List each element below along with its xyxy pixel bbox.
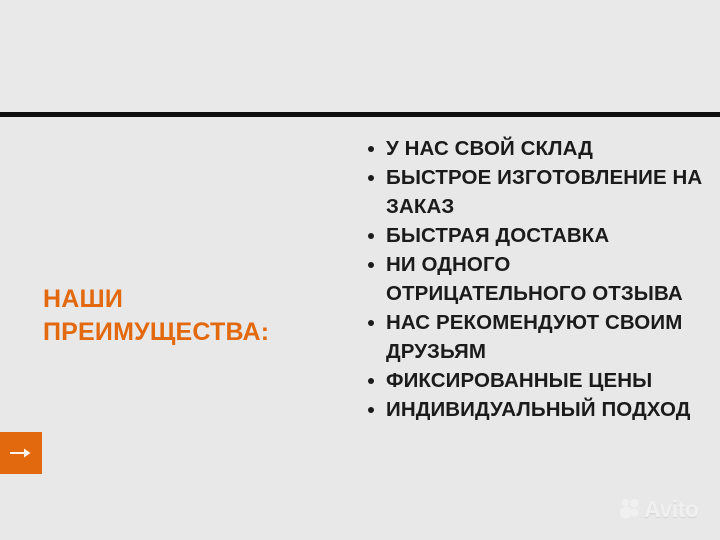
list-item-label: БЫСТРАЯ ДОСТАВКА xyxy=(386,221,714,250)
bullet-dot-icon xyxy=(368,262,374,268)
list-item: ИНДИВИДУАЛЬНЫЙ ПОДХОД xyxy=(364,395,714,424)
list-item-label: НАС РЕКОМЕНДУЮТ СВОИМ ДРУЗЬЯМ xyxy=(386,308,714,366)
list-item-label: БЫСТРОЕ ИЗГОТОВЛЕНИЕ НА ЗАКАЗ xyxy=(386,163,714,221)
list-item: НИ ОДНОГО ОТРИЦАТЕЛЬНОГО ОТЗЫВА xyxy=(364,250,714,308)
header-band xyxy=(0,0,720,112)
bullet-dot-icon xyxy=(368,320,374,326)
list-item-label: ФИКСИРОВАННЫЕ ЦЕНЫ xyxy=(386,366,714,395)
avito-watermark-text: Avito xyxy=(644,498,699,520)
list-item: НАС РЕКОМЕНДУЮТ СВОИМ ДРУЗЬЯМ xyxy=(364,308,714,366)
list-item: БЫСТРОЕ ИЗГОТОВЛЕНИЕ НА ЗАКАЗ xyxy=(364,163,714,221)
bullet-dot-icon xyxy=(368,146,374,152)
list-item: ФИКСИРОВАННЫЕ ЦЕНЫ xyxy=(364,366,714,395)
next-slide-button[interactable] xyxy=(0,432,42,474)
page-title: НАШИ ПРЕИМУЩЕСТВА: xyxy=(43,283,343,349)
avito-watermark: Avito xyxy=(619,498,699,520)
arrow-right-icon xyxy=(10,447,32,459)
list-item: У НАС СВОЙ СКЛАД xyxy=(364,134,714,163)
benefits-list: У НАС СВОЙ СКЛАД БЫСТРОЕ ИЗГОТОВЛЕНИЕ НА… xyxy=(364,134,714,424)
slide-canvas: НАШИ ПРЕИМУЩЕСТВА: У НАС СВОЙ СКЛАД БЫСТ… xyxy=(0,0,720,540)
avito-logo-icon xyxy=(619,498,641,520)
list-item-label: ИНДИВИДУАЛЬНЫЙ ПОДХОД xyxy=(386,395,714,424)
bullet-dot-icon xyxy=(368,407,374,413)
list-item-label: У НАС СВОЙ СКЛАД xyxy=(386,134,714,163)
list-item: БЫСТРАЯ ДОСТАВКА xyxy=(364,221,714,250)
bullet-dot-icon xyxy=(368,378,374,384)
bullet-dot-icon xyxy=(368,233,374,239)
list-item-label: НИ ОДНОГО ОТРИЦАТЕЛЬНОГО ОТЗЫВА xyxy=(386,250,714,308)
bullet-dot-icon xyxy=(368,175,374,181)
horizontal-divider-rule xyxy=(0,112,720,117)
